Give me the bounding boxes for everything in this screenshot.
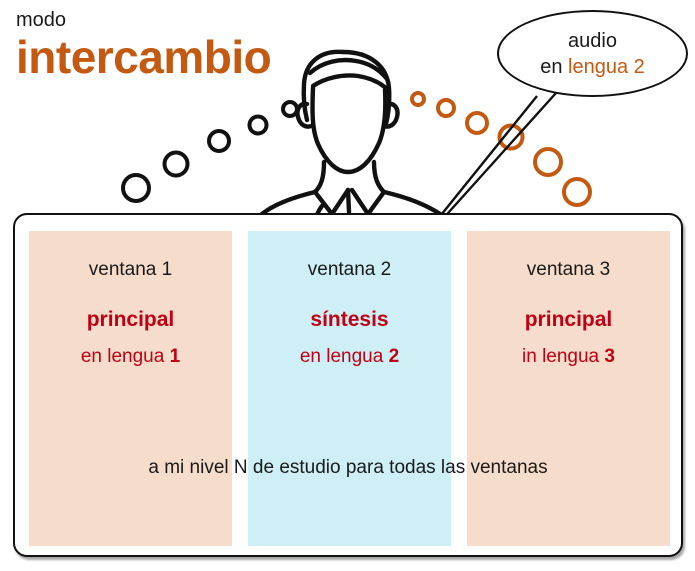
panel-note: a mi nivel N de estudio para todas las v… — [15, 456, 681, 480]
speech-bubble-line-2-prefix: en — [540, 56, 568, 78]
speech-bubble-line-1: audio — [568, 28, 617, 54]
window-3-language-prefix: in lengua — [522, 346, 604, 367]
window-column-2[interactable]: ventana 2 síntesis en lengua 2 — [248, 231, 451, 546]
window-1-language: en lengua 1 — [29, 345, 232, 369]
window-3-language: in lengua 3 — [467, 345, 670, 369]
page-title: intercambio — [16, 30, 271, 84]
speech-bubble-line-2-highlight: lengua 2 — [568, 56, 645, 78]
page-subtitle: modo — [16, 8, 271, 32]
window-column-1[interactable]: ventana 1 principal en lengua 1 — [29, 231, 232, 546]
decorative-circles-orange — [412, 93, 590, 205]
window-3-heading: ventana 3 — [467, 258, 670, 282]
speech-bubble: audio en lengua 2 — [497, 10, 688, 97]
windows-column-group: ventana 1 principal en lengua 1 ventana … — [29, 231, 670, 546]
window-column-3[interactable]: ventana 3 principal in lengua 3 — [467, 231, 670, 546]
window-2-heading: ventana 2 — [248, 258, 451, 282]
window-1-mode: principal — [29, 307, 232, 333]
window-1-language-prefix: en lengua — [81, 346, 170, 367]
window-2-language-number: 2 — [389, 346, 400, 367]
speech-bubble-line-2: en lengua 2 — [540, 54, 645, 80]
window-1-language-number: 1 — [170, 346, 181, 367]
window-3-language-number: 3 — [604, 346, 615, 367]
window-3-mode: principal — [467, 307, 670, 333]
decorative-circles-black — [123, 102, 297, 201]
window-2-language: en lengua 2 — [248, 345, 451, 369]
window-2-mode: síntesis — [248, 307, 451, 333]
window-2-language-prefix: en lengua — [300, 346, 389, 367]
window-1-heading: ventana 1 — [29, 258, 232, 282]
header-block: modo intercambio — [16, 8, 271, 84]
windows-panel: ventana 1 principal en lengua 1 ventana … — [13, 213, 683, 557]
